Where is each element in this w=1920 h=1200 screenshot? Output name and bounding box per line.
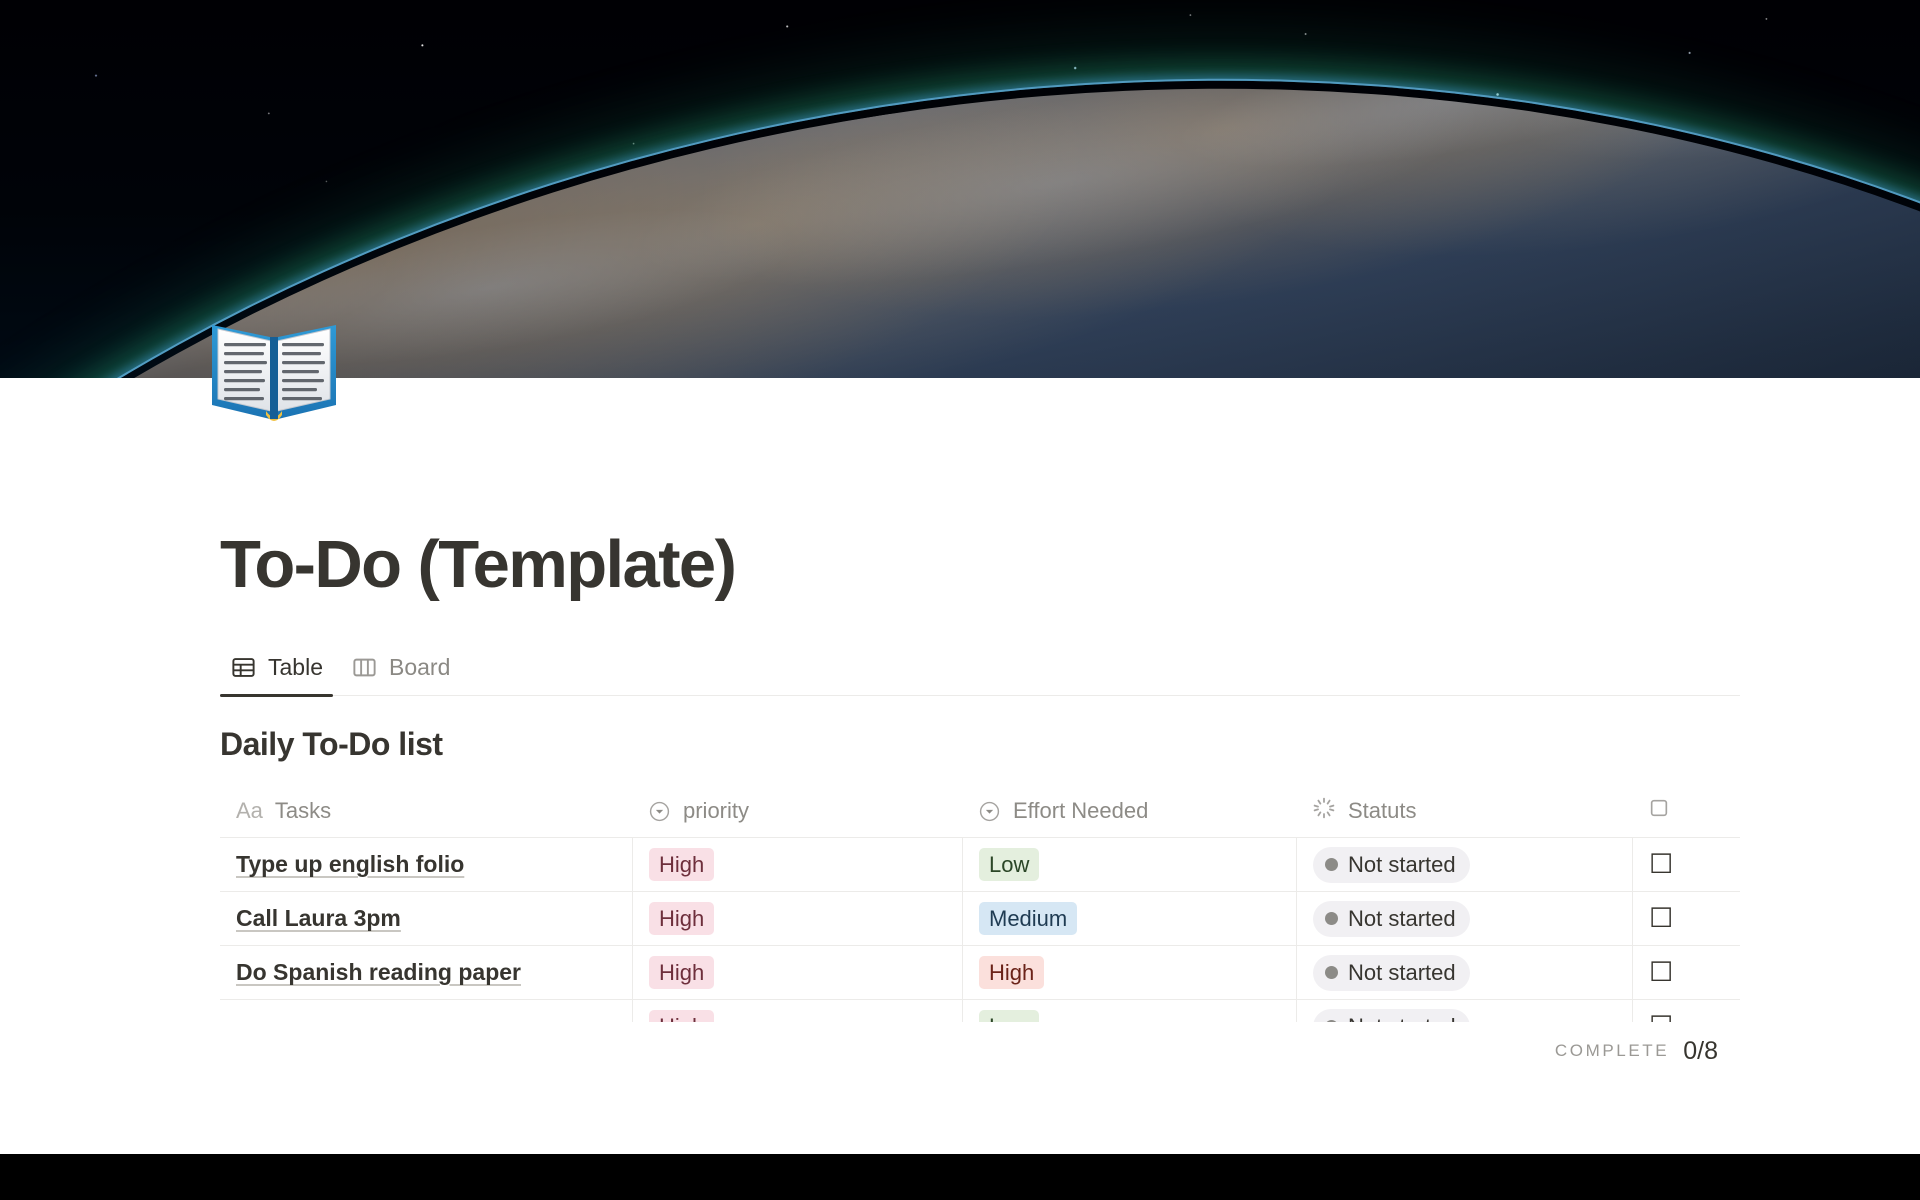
cell-checkbox[interactable]: ☐ <box>1632 892 1740 946</box>
cell-effort[interactable]: Low <box>962 838 1296 892</box>
table-footer: COMPLETE 0/8 <box>200 1022 1720 1080</box>
cell-checkbox[interactable]: ☐ <box>1632 946 1740 1000</box>
priority-pill: High <box>649 1010 714 1022</box>
status-pill-label: Not started <box>1348 852 1456 878</box>
cell-status[interactable]: Not started <box>1296 1000 1632 1022</box>
checkbox-unchecked-icon[interactable]: ☐ <box>1649 959 1673 986</box>
effort-pill: Low <box>979 1010 1039 1022</box>
tab-table-label: Table <box>268 654 323 681</box>
cell-priority[interactable]: High <box>632 892 962 946</box>
column-header-tasks-label: Tasks <box>275 798 331 824</box>
cell-status[interactable]: Not started <box>1296 838 1632 892</box>
status-pill-label: Not started <box>1348 1014 1456 1023</box>
view-tabs: Table Board <box>220 640 1740 696</box>
table-icon <box>230 654 257 681</box>
cell-effort[interactable]: Medium <box>962 892 1296 946</box>
select-chevron-circle-icon <box>648 800 671 823</box>
column-header-checkbox[interactable] <box>1632 785 1740 838</box>
checkbox-unchecked-icon[interactable]: ☐ <box>1649 851 1673 878</box>
cell-task[interactable]: Do Spanish reading paper <box>220 946 632 1000</box>
database-table: Aa Tasks priority <box>220 785 1740 1022</box>
effort-pill: Low <box>979 848 1039 881</box>
cell-priority[interactable]: High <box>632 1000 962 1022</box>
board-columns-icon <box>351 654 378 681</box>
open-book-icon <box>204 311 344 427</box>
tab-table[interactable]: Table <box>220 654 333 695</box>
cell-priority[interactable]: High <box>632 838 962 892</box>
checkbox-unchecked-icon[interactable]: ☐ <box>1649 905 1673 932</box>
cell-status[interactable]: Not started <box>1296 892 1632 946</box>
status-dot-icon <box>1325 912 1338 925</box>
column-header-priority[interactable]: priority <box>632 785 962 838</box>
select-chevron-circle-icon <box>978 800 1001 823</box>
checkbox-unchecked-icon[interactable]: ☐ <box>1649 1013 1673 1022</box>
notion-page: To-Do (Template) Table <box>0 0 1920 1200</box>
table-row[interactable]: Type up english folio High Low Not start… <box>220 838 1740 892</box>
page-icon-open-book[interactable] <box>203 310 345 428</box>
status-pill: Not started <box>1313 901 1470 937</box>
status-dot-icon <box>1325 858 1338 871</box>
cell-task[interactable] <box>220 1000 632 1022</box>
bottom-black-bar <box>0 1154 1920 1200</box>
status-pill: Not started <box>1313 1009 1470 1023</box>
column-header-statuts[interactable]: Statuts <box>1296 785 1632 838</box>
cell-task[interactable]: Call Laura 3pm <box>220 892 632 946</box>
cell-status[interactable]: Not started <box>1296 946 1632 1000</box>
priority-pill: High <box>649 848 714 881</box>
task-link[interactable]: Call Laura 3pm <box>236 905 401 932</box>
cell-effort[interactable]: High <box>962 946 1296 1000</box>
tab-board[interactable]: Board <box>341 654 460 695</box>
status-pill: Not started <box>1313 847 1470 883</box>
status-dot-icon <box>1325 1020 1338 1022</box>
task-link[interactable]: Do Spanish reading paper <box>236 959 521 986</box>
status-pill: Not started <box>1313 955 1470 991</box>
column-header-effort[interactable]: Effort Needed <box>962 785 1296 838</box>
cell-checkbox[interactable]: ☐ <box>1632 838 1740 892</box>
title-text-icon: Aa <box>236 798 263 824</box>
complete-count: 0/8 <box>1683 1037 1718 1066</box>
column-header-tasks[interactable]: Aa Tasks <box>220 785 632 838</box>
database-title[interactable]: Daily To-Do list <box>220 726 1740 763</box>
status-dot-icon <box>1325 966 1338 979</box>
status-pill-label: Not started <box>1348 960 1456 986</box>
priority-pill: High <box>649 902 714 935</box>
table-header-row: Aa Tasks priority <box>220 785 1740 838</box>
tab-board-label: Board <box>389 654 450 681</box>
task-link[interactable]: Type up english folio <box>236 851 464 878</box>
table-row[interactable]: High Low Not started ☐ <box>220 1000 1740 1022</box>
cell-task[interactable]: Type up english folio <box>220 838 632 892</box>
cell-effort[interactable]: Low <box>962 1000 1296 1022</box>
cell-checkbox[interactable]: ☐ <box>1632 1000 1740 1022</box>
column-header-effort-label: Effort Needed <box>1013 798 1148 824</box>
column-header-priority-label: priority <box>683 798 749 824</box>
table-body: Type up english folio High Low Not start… <box>220 838 1740 1022</box>
table-row[interactable]: Do Spanish reading paper High High Not s… <box>220 946 1740 1000</box>
status-spinner-icon <box>1312 796 1336 826</box>
page-title[interactable]: To-Do (Template) <box>220 530 1740 600</box>
page-content: To-Do (Template) Table <box>0 378 1920 1080</box>
priority-pill: High <box>649 956 714 989</box>
status-pill-label: Not started <box>1348 906 1456 932</box>
cell-priority[interactable]: High <box>632 946 962 1000</box>
checkbox-icon <box>1648 797 1670 825</box>
complete-label: COMPLETE <box>1555 1041 1669 1061</box>
effort-pill: High <box>979 956 1044 989</box>
effort-pill: Medium <box>979 902 1077 935</box>
table-row[interactable]: Call Laura 3pm High Medium Not started <box>220 892 1740 946</box>
column-header-statuts-label: Statuts <box>1348 798 1416 824</box>
